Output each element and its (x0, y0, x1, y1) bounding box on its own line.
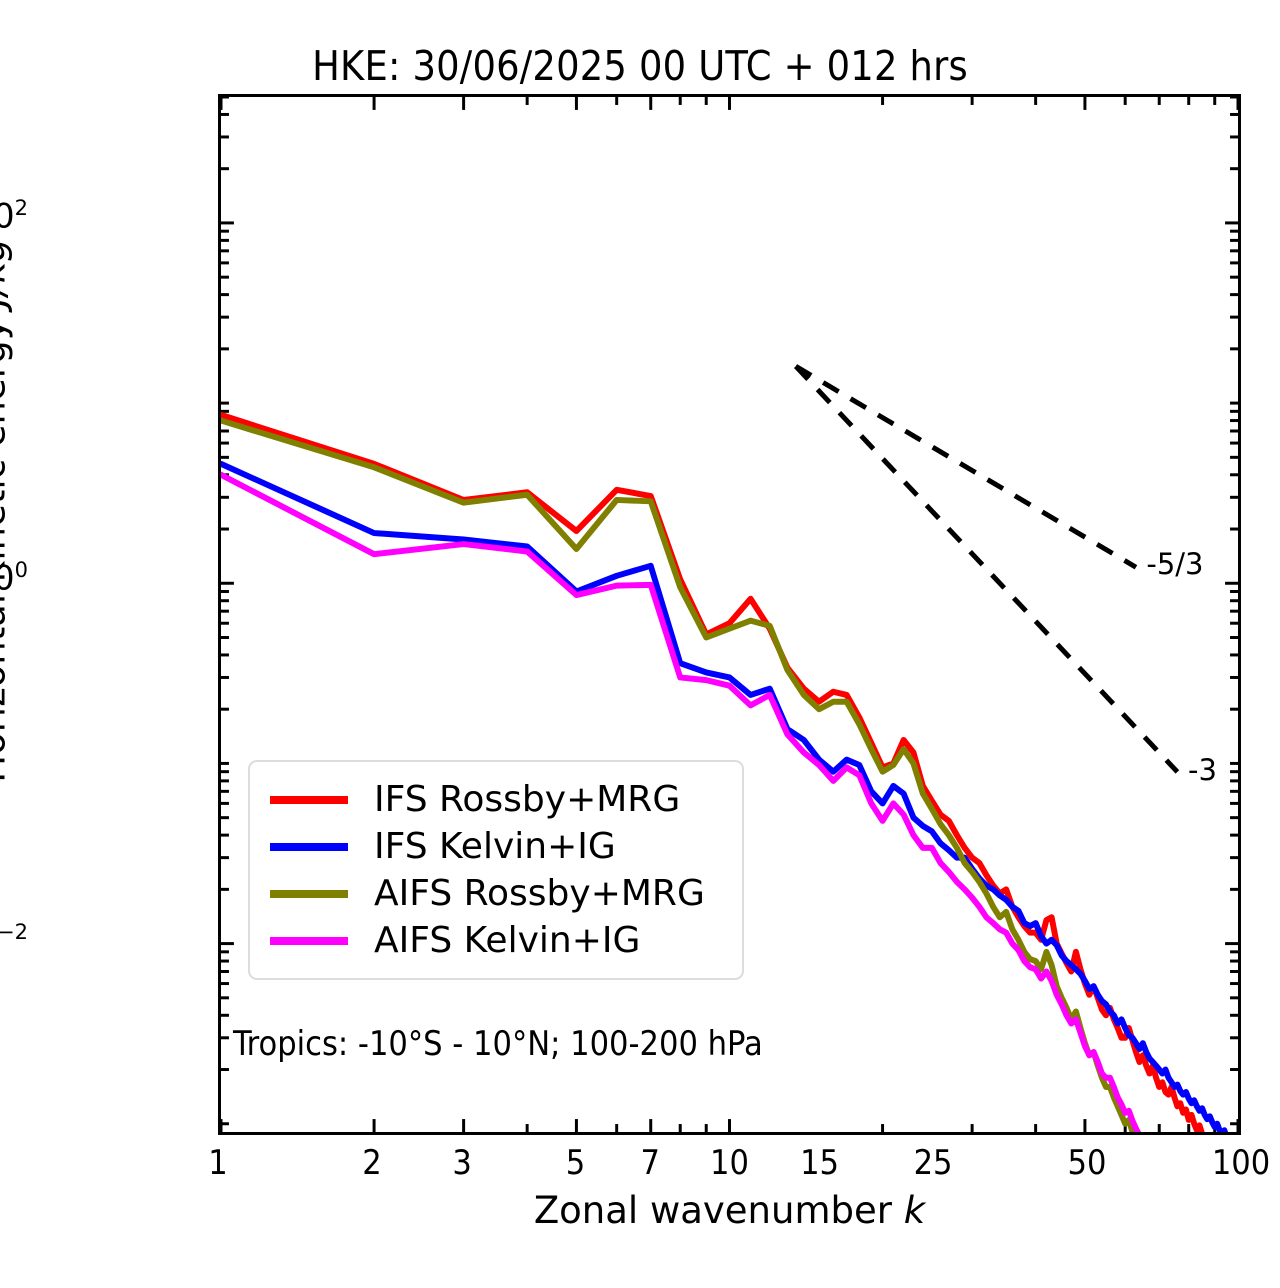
x-axis-label-text: Zonal wavenumber (534, 1189, 904, 1232)
x-axis-label-symbol: k (904, 1189, 925, 1232)
legend-color-swatch (270, 890, 348, 898)
legend-color-swatch (270, 937, 348, 945)
legend-item-label: AIFS Kelvin+IG (374, 923, 640, 959)
x-tick-label: 3 (452, 1143, 471, 1183)
x-tick-label: 50 (1068, 1143, 1107, 1183)
legend-item-0[interactable]: IFS Rossby+MRG (250, 776, 742, 823)
x-tick-label: 10 (710, 1143, 749, 1183)
legend-item-1[interactable]: IFS Kelvin+IG (250, 823, 742, 870)
y-tick-label: 102 (0, 196, 28, 236)
legend: IFS Rossby+MRGIFS Kelvin+IGAIFS Rossby+M… (248, 760, 744, 980)
region-annotation: Tropics: -10°S - 10°N; 100-200 hPa (233, 1024, 763, 1064)
legend-item-label: IFS Kelvin+IG (374, 829, 616, 865)
x-axis-label: Zonal wavenumber k (218, 1189, 1241, 1232)
legend-item-label: IFS Rossby+MRG (374, 782, 680, 818)
slope-line-0 (796, 366, 1136, 567)
x-tick-label: 100 (1212, 1143, 1270, 1183)
legend-color-swatch (270, 796, 348, 804)
chart-figure: HKE: 30/06/2025 00 UTC + 012 hrs Horizon… (0, 0, 1280, 1288)
y-axis-label-text: Horizontal kinetic energy (0, 307, 14, 783)
slope-label-five-thirds: -5/3 (1146, 547, 1203, 581)
x-tick-label: 1 (208, 1143, 227, 1183)
x-tick-label: 2 (362, 1143, 381, 1183)
slope-label-minus-three: -3 (1188, 753, 1217, 787)
legend-item-3[interactable]: AIFS Kelvin+IG (250, 917, 742, 964)
x-tick-label: 7 (641, 1143, 660, 1183)
x-tick-label: 5 (566, 1143, 585, 1183)
page-title: HKE: 30/06/2025 00 UTC + 012 hrs (0, 42, 1280, 90)
y-axis-label-unit: J/kg (0, 238, 14, 306)
y-tick-label: 10−2 (0, 920, 28, 960)
x-tick-label: 15 (800, 1143, 839, 1183)
x-tick-label: 25 (914, 1143, 953, 1183)
y-tick-label: 100 (0, 558, 28, 598)
legend-item-label: AIFS Rossby+MRG (374, 876, 705, 912)
legend-color-swatch (270, 843, 348, 851)
legend-item-2[interactable]: AIFS Rossby+MRG (250, 870, 742, 917)
